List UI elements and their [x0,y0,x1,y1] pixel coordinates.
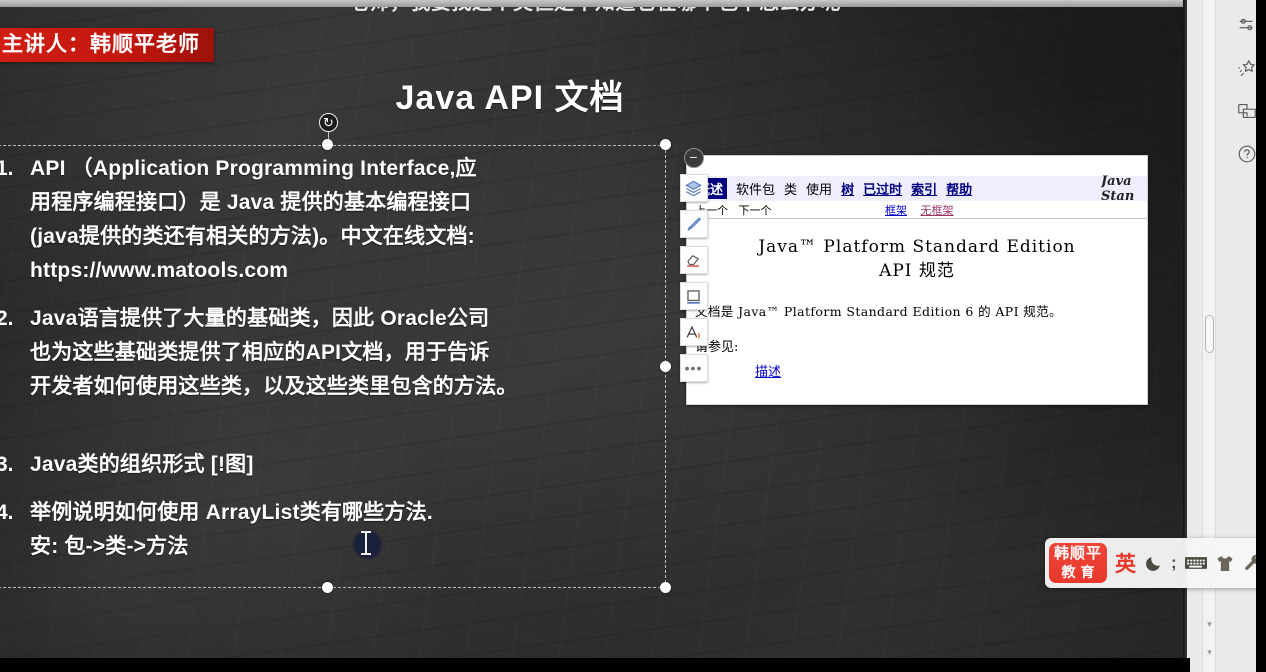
javadoc-nav-class[interactable]: 类 [784,179,797,198]
brand-logo-line1: 韩顺平 [1054,545,1102,563]
javadoc-see-also-label: 请参见: [695,336,1147,355]
list-item-text: Java类的组织形式 [!图] [30,448,672,482]
javadoc-nav-deprecated[interactable]: 已过时 [863,179,902,198]
scroll-down-arrow-icon[interactable]: ▾ [1204,620,1215,628]
selection-handle-middle-right[interactable] [660,361,671,372]
javadoc-heading-line1: Java™ Platform Standard Edition [687,235,1147,259]
skin-shirt-icon[interactable] [1215,554,1235,573]
list-item[interactable]: 2. Java语言提供了大量的基础类，因此 Oracle公司 也为这些基础类提供… [0,302,672,404]
brand-logo: 韩顺平 教育 [1049,543,1107,583]
slide-body-textbox[interactable]: 1. API （Application Programming Interfac… [0,152,672,578]
javadoc-navbar: 概述 软件包 类 使用 树 已过时 索引 帮助 [687,176,1147,201]
javadoc-heading-line2: API 规范 [687,259,1147,283]
brush-icon[interactable] [680,210,708,238]
list-item[interactable]: 3. Java类的组织形式 [!图] [0,448,672,482]
list-item-text: API （Application Programming Interface,应… [30,152,672,288]
list-item-text: 举例说明如何使用 ArrayList类有哪些方法. 安: 包->类->方法 [30,496,672,564]
javadoc-nav-help[interactable]: 帮助 [946,179,972,198]
javadoc-subnav: 上一个 下一个 框架 无框架 [687,201,1147,219]
selection-handle-top-center[interactable] [322,139,333,150]
ime-status-bar[interactable]: 韩顺平 教育 英 ; [1045,538,1266,588]
selection-handle-top-right[interactable] [660,139,671,150]
selection-handle-bottom-center[interactable] [322,582,333,593]
rectangle-icon[interactable] [680,282,708,310]
list-item-text: Java语言提供了大量的基础类，因此 Oracle公司 也为这些基础类提供了相应… [30,302,672,404]
presentation-slide[interactable]: 老师，我要找这个类但是不知道它在哪个包下怎么办呢 主讲人：韩顺平老师 Java … [0,0,1190,658]
list-item-number: 1. [0,152,30,186]
selection-handle-bottom-right[interactable] [660,582,671,593]
vertical-scrollbar-thumb[interactable] [1205,315,1214,353]
javadoc-nav-packages[interactable]: 软件包 [736,179,775,198]
javadoc-brand-text: Java Stan [1101,174,1145,204]
javadoc-paragraph: 文档是 Java™ Platform Standard Edition 6 的 … [695,301,1147,320]
javadoc-screenshot-image[interactable]: 概述 软件包 类 使用 树 已过时 索引 帮助 Java Stan 上一个 下一… [686,155,1148,405]
moon-icon[interactable] [1144,554,1163,573]
javadoc-brand-line1: Java [1101,174,1132,189]
javadoc-see-also-link[interactable]: 描述 [755,361,1147,380]
scroll-down-arrow-icon-2[interactable]: ▾ [1204,648,1215,656]
window-bottom-frame [0,658,1190,672]
window-right-frame [1256,0,1266,672]
javadoc-next-link[interactable]: 下一个 [739,204,772,217]
list-item-number: 4. [0,496,30,530]
javadoc-frames-link[interactable]: 框架 [885,204,907,217]
javadoc-heading: Java™ Platform Standard Edition API 规范 [687,235,1147,283]
layers-icon[interactable] [680,174,708,202]
javadoc-noframes-link[interactable]: 无框架 [921,204,954,217]
collapse-toolbar-icon[interactable]: − [684,148,704,168]
rotation-handle[interactable]: ↻ [319,113,338,132]
text-cursor-icon [365,531,367,555]
list-spacer [0,418,672,448]
slide-title[interactable]: Java API 文档 [0,70,1020,119]
javadoc-nav-use[interactable]: 使用 [806,179,832,198]
list-item-number: 2. [0,302,30,336]
javadoc-nav-index[interactable]: 索引 [911,179,937,198]
eraser-icon[interactable] [680,246,708,274]
ime-language-mode[interactable]: 英 [1115,548,1136,578]
text-tool-icon[interactable] [680,318,708,346]
cursor-highlight [352,529,383,560]
list-item[interactable]: 1. API （Application Programming Interfac… [0,152,672,288]
ime-punctuation-mode[interactable]: ; [1171,553,1177,573]
javadoc-nav-tree[interactable]: 树 [841,179,854,198]
slide-top-strip [0,0,1190,7]
brand-logo-line2: 教育 [1057,563,1100,581]
list-item[interactable]: 4. 举例说明如何使用 ArrayList类有哪些方法. 安: 包->类->方法 [0,496,672,564]
more-options-label: ••• [685,363,703,373]
javadoc-frames-links: 框架 无框架 [885,202,954,218]
more-options-icon[interactable]: ••• [680,354,708,382]
screen-root: 老师，我要找这个类但是不知道它在哪个包下怎么办呢 主讲人：韩顺平老师 Java … [0,0,1266,672]
annotation-toolbar[interactable]: − [679,148,708,390]
list-item-number: 3. [0,448,30,482]
speaker-banner: 主讲人：韩顺平老师 [0,28,214,62]
keyboard-icon[interactable] [1185,554,1207,572]
